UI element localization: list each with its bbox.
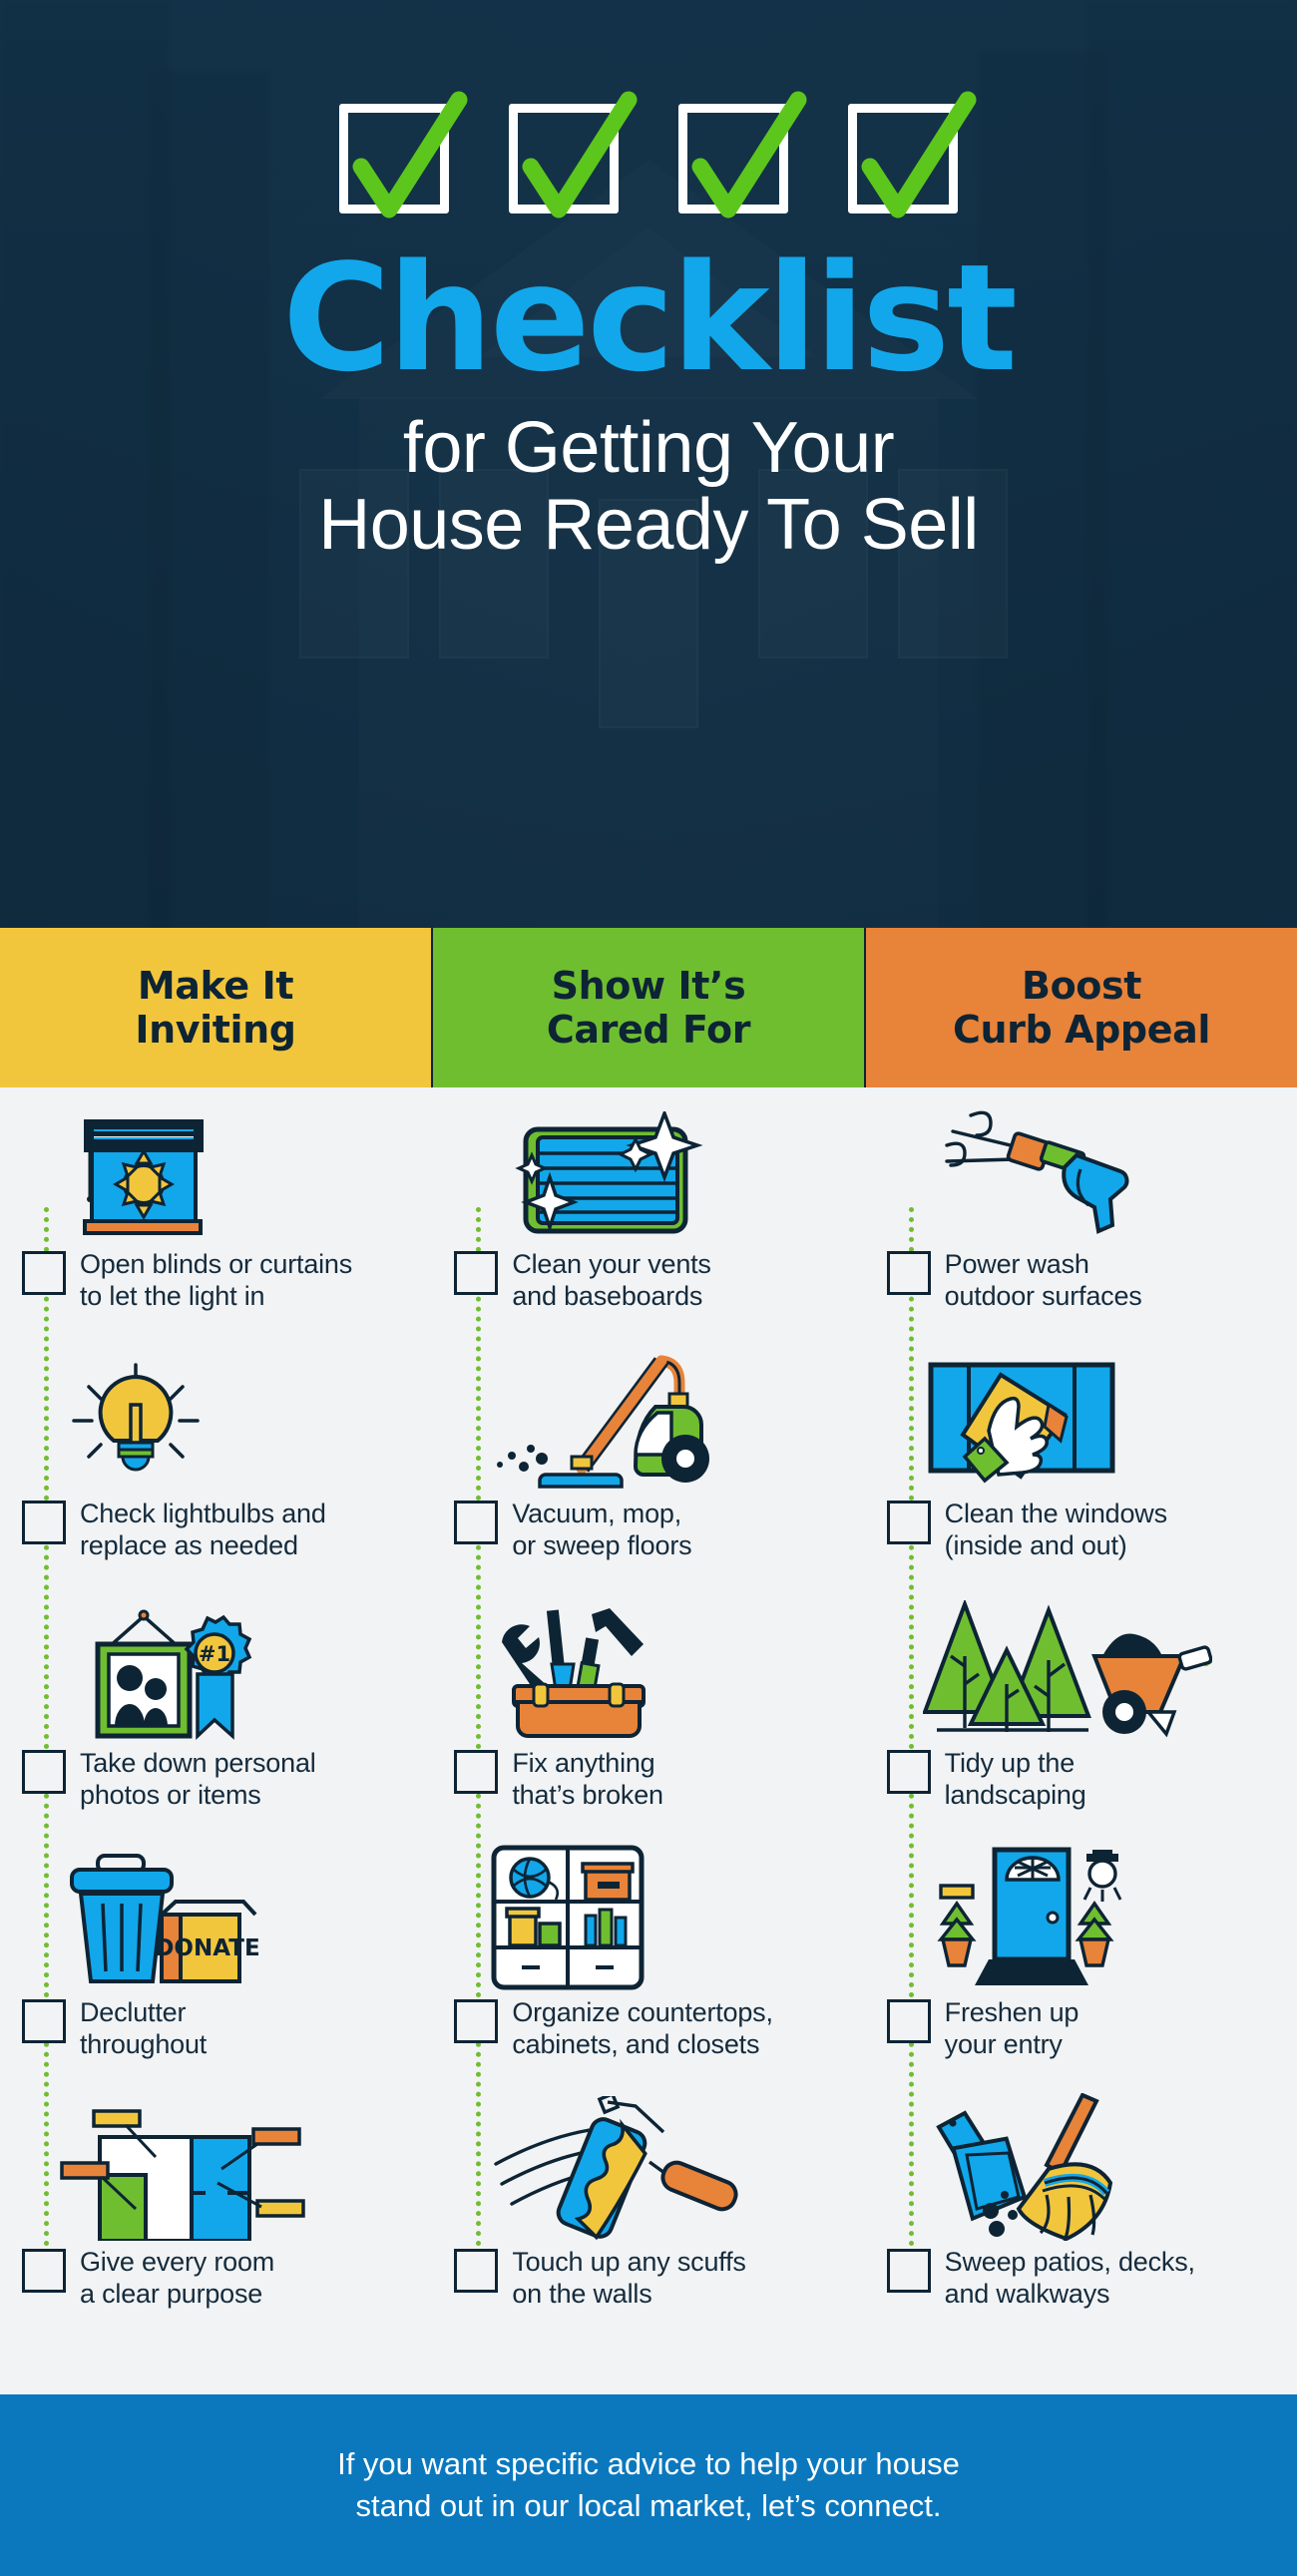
- checklist-checkbox[interactable]: [22, 1501, 66, 1544]
- hero-title-block: Checklist for Getting Your House Ready T…: [0, 249, 1297, 564]
- checklist-item-line-2: and baseboards: [512, 1281, 710, 1313]
- category-title-line-1: Make It: [135, 964, 295, 1008]
- trash-donate-box-icon: DONATE: [0, 1844, 432, 1995]
- checklist-item-line-1: Touch up any scuffs: [512, 2247, 745, 2279]
- checklist-checkbox[interactable]: [454, 2249, 498, 2293]
- checklist-item-line-1: Fix anything: [512, 1748, 663, 1780]
- framed-photo-award-icon: #1: [0, 1594, 432, 1746]
- checklist-item-line-1: Declutter: [80, 1997, 207, 2029]
- window-blinds-sun-icon: [0, 1095, 432, 1247]
- checklist-item[interactable]: Freshen up your entry: [865, 1844, 1297, 2093]
- paint-roller-icon: [432, 2093, 864, 2245]
- toolbox-icon: [432, 1594, 864, 1746]
- checklist-item-line-2: a clear purpose: [80, 2279, 274, 2311]
- checklist-item[interactable]: Power wash outdoor surfaces: [865, 1095, 1297, 1345]
- broom-dustpan-icon: [865, 2093, 1297, 2245]
- checklist-checkbox[interactable]: [22, 1251, 66, 1295]
- checklist-item-line-2: photos or items: [80, 1780, 316, 1812]
- vent-sparkle-icon: [432, 1095, 864, 1247]
- svg-text:#1: #1: [199, 1642, 230, 1666]
- front-door-icon: [865, 1844, 1297, 1995]
- checklist-item-line-1: Clean the windows: [945, 1499, 1167, 1530]
- hero-checkbox-1: [339, 104, 449, 214]
- checklist-item[interactable]: Clean the windows (inside and out): [865, 1345, 1297, 1594]
- checklist-columns: Open blinds or curtains to let the light…: [0, 1087, 1297, 2394]
- checklist-checkbox[interactable]: [454, 1999, 498, 2043]
- window-cleaning-icon: [865, 1345, 1297, 1497]
- checklist-checkbox[interactable]: [887, 1501, 931, 1544]
- checklist-item[interactable]: #1 Take down personal photos or items: [0, 1594, 432, 1844]
- checklist-item-line-2: cabinets, and closets: [512, 2029, 772, 2061]
- footer-cta-bar: If you want specific advice to help your…: [0, 2394, 1297, 2576]
- checklist-item-line-2: to let the light in: [80, 1281, 352, 1313]
- trees-wheelbarrow-icon: [865, 1594, 1297, 1746]
- checklist-item[interactable]: Tidy up the landscaping: [865, 1594, 1297, 1844]
- checklist-checkbox[interactable]: [454, 1251, 498, 1295]
- hero-checkbox-3: [678, 104, 788, 214]
- checklist-item-line-1: Sweep patios, decks,: [945, 2247, 1195, 2279]
- checklist-item-line-1: Open blinds or curtains: [80, 1249, 352, 1281]
- checklist-checkbox[interactable]: [454, 1750, 498, 1794]
- checklist-item[interactable]: Give every room a clear purpose: [0, 2093, 432, 2343]
- checklist-item-line-1: Take down personal: [80, 1748, 316, 1780]
- checklist-item-line-1: Clean your vents: [512, 1249, 710, 1281]
- category-header-make-it-inviting: Make It Inviting: [0, 928, 433, 1087]
- category-title-line-1: Show It’s: [547, 964, 750, 1008]
- checklist-item-line-2: (inside and out): [945, 1530, 1167, 1562]
- lightbulb-icon: [0, 1345, 432, 1497]
- hero-checkbox-2: [509, 104, 619, 214]
- category-header-show-its-cared-for: Show It’s Cared For: [433, 928, 866, 1087]
- checklist-checkbox[interactable]: [887, 1999, 931, 2043]
- category-header-bar: Make It Inviting Show It’s Cared For Boo…: [0, 928, 1297, 1087]
- checklist-checkbox[interactable]: [22, 1750, 66, 1794]
- checklist-item[interactable]: Organize countertops, cabinets, and clos…: [432, 1844, 864, 2093]
- checklist-item-line-1: Organize countertops,: [512, 1997, 772, 2029]
- checklist-item[interactable]: Clean your vents and baseboards: [432, 1095, 864, 1345]
- checklist-checkbox[interactable]: [22, 1999, 66, 2043]
- page-title: Checklist: [0, 249, 1297, 388]
- svg-text:DONATE: DONATE: [155, 1935, 259, 1961]
- checklist-item-line-2: outdoor surfaces: [945, 1281, 1142, 1313]
- checklist-column-make-it-inviting: Open blinds or curtains to let the light…: [0, 1087, 432, 2394]
- category-title-line-2: Curb Appeal: [953, 1008, 1210, 1052]
- shelving-unit-icon: [432, 1844, 864, 1995]
- category-title-line-1: Boost: [953, 964, 1210, 1008]
- vacuum-cleaner-icon: [432, 1345, 864, 1497]
- checklist-item[interactable]: DONATE Declutter throughout: [0, 1844, 432, 2093]
- checklist-item-line-2: that’s broken: [512, 1780, 663, 1812]
- footer-text-line-2: stand out in our local market, let’s con…: [337, 2485, 960, 2527]
- footer-text-line-1: If you want specific advice to help your…: [337, 2443, 960, 2485]
- checkmark-icon: [501, 82, 650, 231]
- checklist-item-line-1: Freshen up: [945, 1997, 1080, 2029]
- checklist-item-line-2: replace as needed: [80, 1530, 326, 1562]
- checkmark-icon: [331, 82, 481, 231]
- checklist-item-line-2: your entry: [945, 2029, 1080, 2061]
- checklist-item[interactable]: Sweep patios, decks, and walkways: [865, 2093, 1297, 2343]
- hero-section: Checklist for Getting Your House Ready T…: [0, 0, 1297, 928]
- hero-checkbox-4: [848, 104, 958, 214]
- category-header-boost-curb-appeal: Boost Curb Appeal: [866, 928, 1297, 1087]
- category-title-line-2: Cared For: [547, 1008, 750, 1052]
- checkmark-icon: [840, 82, 990, 231]
- checklist-item-line-1: Power wash: [945, 1249, 1142, 1281]
- page-subtitle-line-1: for Getting Your: [0, 410, 1297, 487]
- floor-plan-icon: [0, 2093, 432, 2245]
- checklist-item-line-1: Tidy up the: [945, 1748, 1086, 1780]
- checklist-item-line-2: landscaping: [945, 1780, 1086, 1812]
- checklist-item-line-2: throughout: [80, 2029, 207, 2061]
- checklist-item[interactable]: Open blinds or curtains to let the light…: [0, 1095, 432, 1345]
- pressure-washer-icon: [865, 1095, 1297, 1247]
- checklist-item-line-1: Give every room: [80, 2247, 274, 2279]
- checklist-item[interactable]: Fix anything that’s broken: [432, 1594, 864, 1844]
- checklist-checkbox[interactable]: [454, 1501, 498, 1544]
- checklist-checkbox[interactable]: [887, 1750, 931, 1794]
- checklist-item[interactable]: Vacuum, mop, or sweep floors: [432, 1345, 864, 1594]
- hero-checkmark-row: [0, 104, 1297, 214]
- checkmark-icon: [670, 82, 820, 231]
- checklist-item-line-2: and walkways: [945, 2279, 1195, 2311]
- category-title-line-2: Inviting: [135, 1008, 295, 1052]
- checklist-checkbox[interactable]: [887, 2249, 931, 2293]
- checklist-item-line-1: Vacuum, mop,: [512, 1499, 691, 1530]
- checklist-item-line-2: on the walls: [512, 2279, 745, 2311]
- checklist-column-show-its-cared-for: Clean your vents and baseboards: [432, 1087, 864, 2394]
- checklist-item[interactable]: Check lightbulbs and replace as needed: [0, 1345, 432, 1594]
- page-subtitle-line-2: House Ready To Sell: [0, 487, 1297, 564]
- checklist-column-boost-curb-appeal: Power wash outdoor surfaces: [865, 1087, 1297, 2394]
- checklist-checkbox[interactable]: [887, 1251, 931, 1295]
- checklist-item[interactable]: Touch up any scuffs on the walls: [432, 2093, 864, 2343]
- checklist-item-line-1: Check lightbulbs and: [80, 1499, 326, 1530]
- checklist-item-line-2: or sweep floors: [512, 1530, 691, 1562]
- checklist-checkbox[interactable]: [22, 2249, 66, 2293]
- infographic-page: Checklist for Getting Your House Ready T…: [0, 0, 1297, 2576]
